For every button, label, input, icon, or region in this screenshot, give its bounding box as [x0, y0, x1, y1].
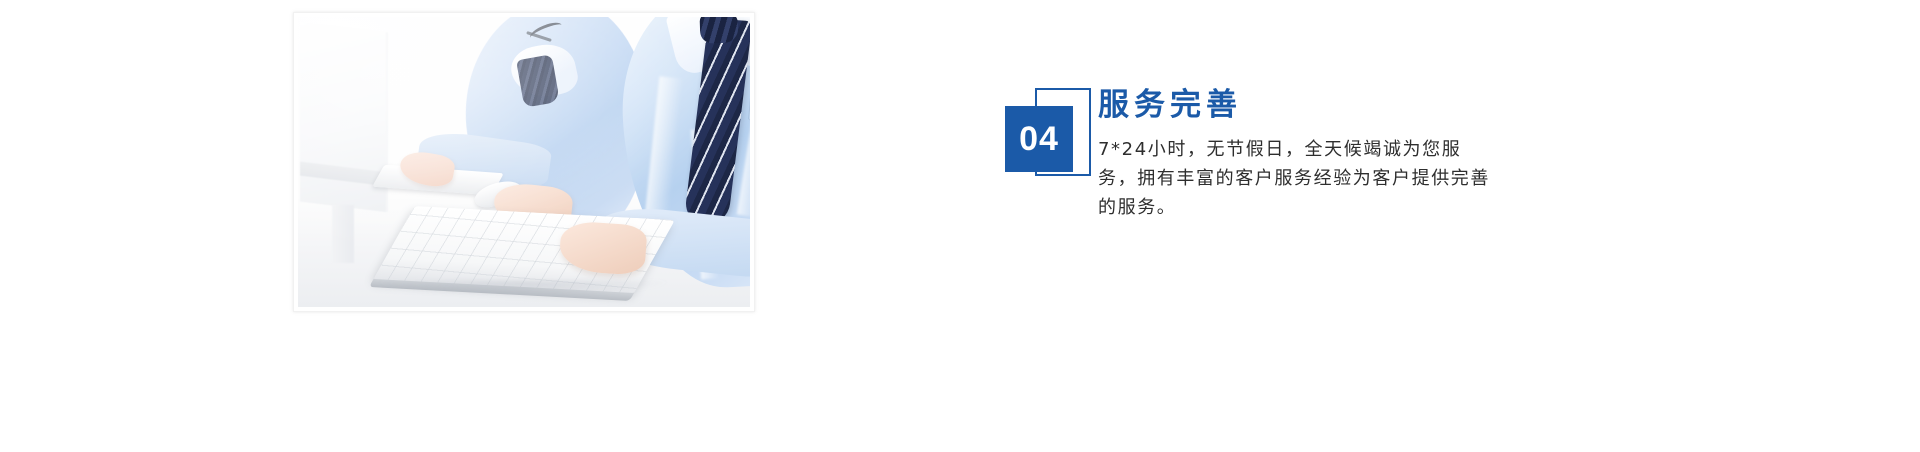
feature-section: 04 服务完善 7*24小时，无节假日，全天候竭诚为您服务，拥有丰富的客户服务经…: [0, 0, 1920, 452]
feature-number-label: 04: [1019, 122, 1059, 156]
feature-description: 7*24小时，无节假日，全天候竭诚为您服务，拥有丰富的客户服务经验为客户提供完善…: [1098, 135, 1496, 222]
feature-text-column: 服务完善 7*24小时，无节假日，全天候竭诚为您服务，拥有丰富的客户服务经验为客…: [1098, 88, 1518, 222]
desk-shadow: [358, 281, 688, 301]
tie-knot-shape: [699, 17, 738, 44]
badge-square: 04: [1005, 106, 1073, 172]
feature-number-badge: 04: [1003, 88, 1095, 188]
feature-title: 服务完善: [1098, 88, 1518, 123]
monitor-stand-shape: [332, 205, 354, 263]
photo-frame: [293, 12, 755, 312]
customer-service-team-photo: [298, 17, 750, 307]
feature-content: 04 服务完善 7*24小时，无节假日，全天候竭诚为您服务，拥有丰富的客户服务经…: [1003, 88, 1523, 268]
